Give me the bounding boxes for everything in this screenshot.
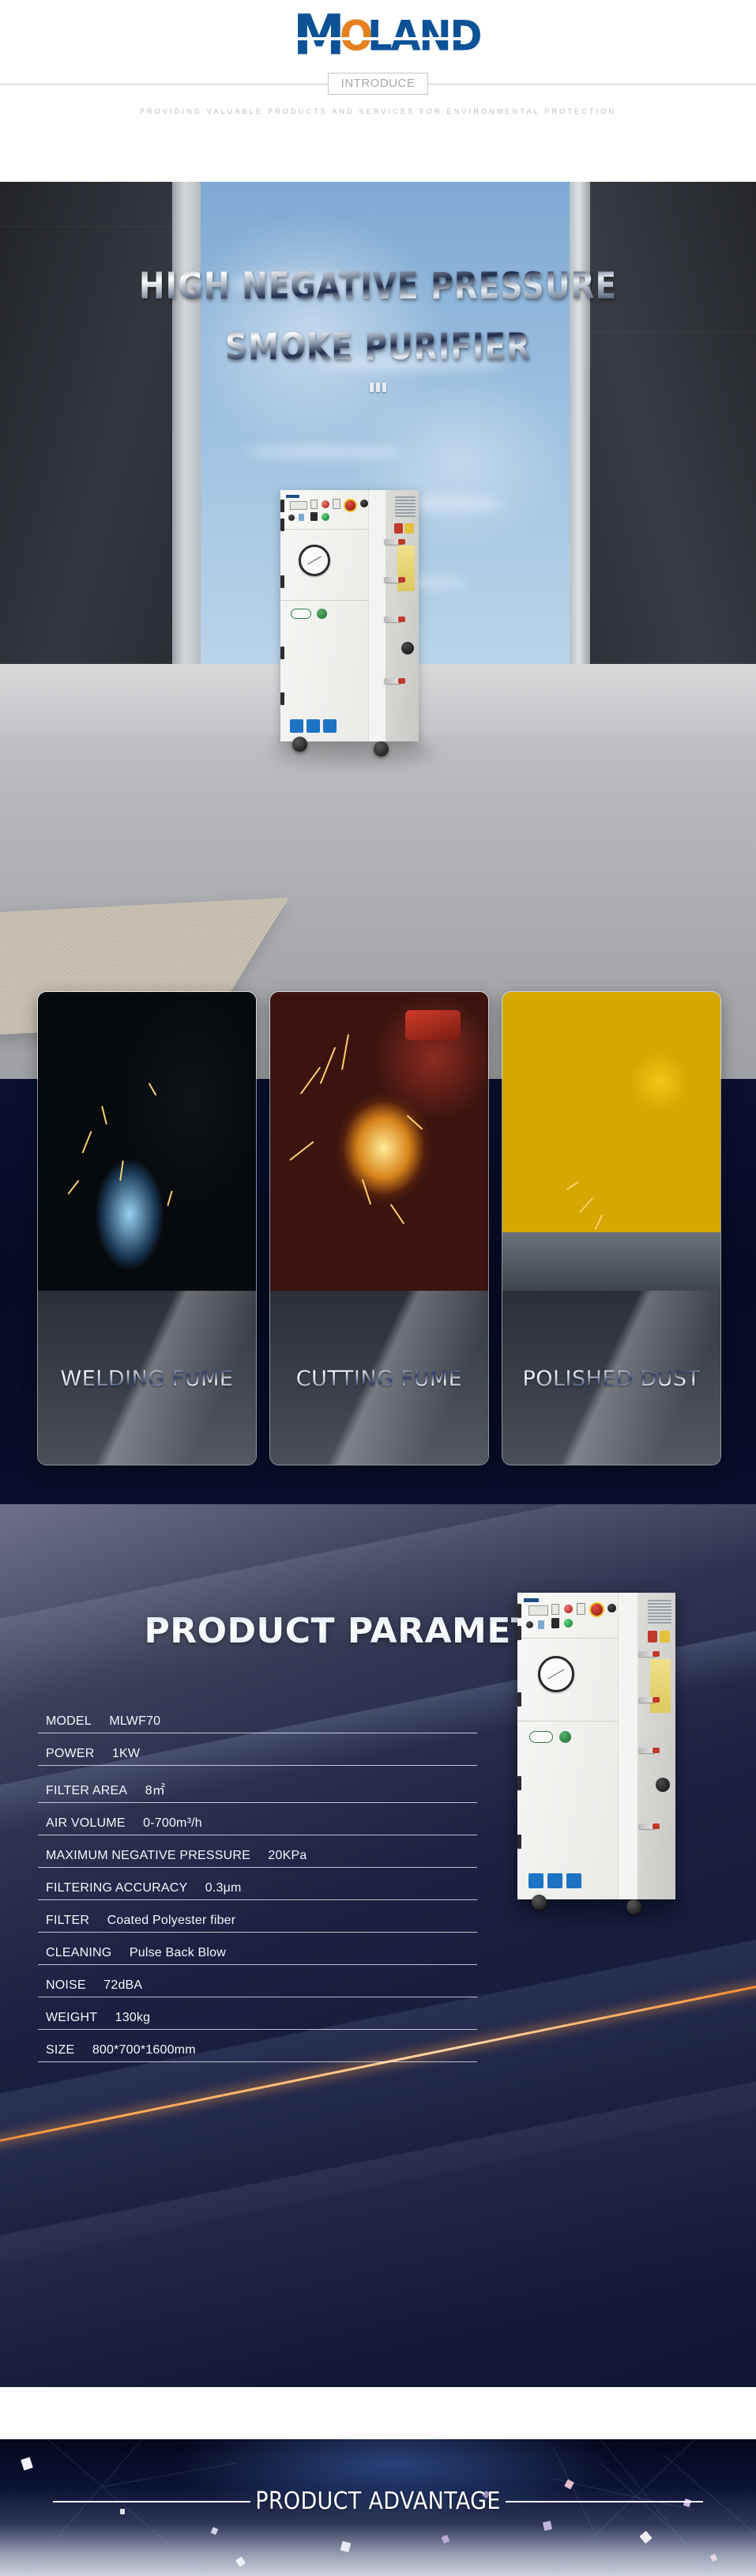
param-key: MAXIMUM NEGATIVE PRESSURE (46, 1849, 250, 1862)
parameters-product-image (517, 1593, 747, 1964)
cutting-fume-photo (270, 992, 488, 1292)
param-key: WEIGHT (46, 2011, 97, 2024)
advantage-rule-left (53, 2501, 250, 2502)
param-key: SIZE (46, 2043, 74, 2057)
hero-title-line1: HIGH NEGATIVE PRESSURE (139, 266, 617, 307)
category-label-welding-fume: WELDING FUME (38, 1367, 256, 1391)
cutting-fume-label-panel: CUTTING FUME (270, 1291, 488, 1465)
table-row: WEIGHT 130kg (38, 2011, 477, 2030)
introduce-label: INTRODUCE (328, 73, 429, 95)
category-label-cutting-fume: CUTTING FUME (270, 1367, 488, 1391)
hero-title-block: HIGH NEGATIVE PRESSURE SMOKE PURIFIER (0, 269, 756, 392)
param-value: 20KPa (268, 1849, 307, 1862)
hero-banner: HIGH NEGATIVE PRESSURE SMOKE PURIFIER (0, 182, 756, 1079)
table-row: MODEL MLWF70 (38, 1714, 477, 1733)
table-row: AIR VOLUME 0-700m³/h (38, 1816, 477, 1835)
param-key: FILTER (46, 1914, 89, 1927)
logo-letter-m: M (293, 9, 340, 64)
polished-dust-label-panel: POLISHED DUST (502, 1291, 720, 1465)
param-value: 1KW (112, 1747, 140, 1760)
param-key: NOISE (46, 1978, 86, 1992)
welding-fume-photo (38, 992, 256, 1292)
welding-fume-label-panel: WELDING FUME (38, 1291, 256, 1465)
brand-logo[interactable]: M O LAND (0, 12, 756, 61)
hero-decoration-dots (0, 383, 756, 392)
advantage-title: PRODUCT ADVANTAGE (250, 2487, 505, 2515)
divider-line-left (0, 84, 328, 85)
confetti-piece (543, 2521, 552, 2531)
polished-dust-photo (502, 992, 720, 1292)
param-value: 0.3μm (205, 1881, 242, 1895)
product-parameters-section: PRODUCT PARAMETERS MODEL MLWF70 POWER 1K… (0, 1504, 756, 2387)
section-white-gap (0, 2387, 756, 2397)
param-value: 0-700m³/h (143, 1816, 202, 1830)
param-value: MLWF70 (109, 1714, 160, 1728)
divider-line-right (428, 84, 756, 85)
param-key: POWER (46, 1747, 94, 1760)
param-value: 800*700*1600mm (92, 2043, 196, 2057)
param-value: 130kg (115, 2011, 151, 2024)
hero-product-image (280, 490, 419, 751)
hero-wall-right (590, 182, 756, 688)
param-key: AIR VOLUME (46, 1816, 126, 1830)
param-value: 72dBA (103, 1978, 142, 1992)
page-header: M O LAND INTRODUCE PROVIDING VALUABLE PR… (0, 0, 756, 182)
logo-letter-o: O (340, 16, 370, 58)
table-row: NOISE 72dBA (38, 1978, 477, 1997)
table-row: FILTER AREA 8㎡ (38, 1779, 477, 1803)
parameters-table: MODEL MLWF70 POWER 1KW FILTER AREA 8㎡ AI… (38, 1714, 477, 2062)
introduce-divider: INTRODUCE (0, 68, 756, 100)
hero-window-jamb-right (570, 182, 590, 688)
param-key: CLEANING (46, 1946, 111, 1959)
param-value: Pulse Back Blow (130, 1946, 226, 1959)
param-value: Coated Polyester fiber (107, 1914, 236, 1927)
table-row: FILTERING ACCURACY 0.3μm (38, 1881, 477, 1900)
advantage-rule-right (506, 2501, 703, 2502)
hero-wall-left (0, 182, 172, 688)
table-row: CLEANING Pulse Back Blow (38, 1946, 477, 1965)
category-card-welding-fume[interactable]: WELDING FUME (37, 991, 257, 1465)
table-row: FILTER Coated Polyester fiber (38, 1914, 477, 1933)
table-row: SIZE 800*700*1600mm (38, 2043, 477, 2062)
product-advantage-section: PRODUCT ADVANTAGE (0, 2439, 756, 2576)
category-card-polished-dust[interactable]: POLISHED DUST (502, 991, 721, 1465)
logo-letters-land: LAND (367, 16, 480, 58)
company-tagline: PROVIDING VALUABLE PRODUCTS AND SERVICES… (0, 107, 756, 115)
category-label-polished-dust: POLISHED DUST (502, 1367, 720, 1391)
category-card-cutting-fume[interactable]: CUTTING FUME (269, 991, 489, 1465)
advantage-title-row: PRODUCT ADVANTAGE (0, 2489, 756, 2514)
hero-title-line2: SMOKE PURIFIER (225, 326, 531, 368)
table-row: POWER 1KW (38, 1747, 477, 1766)
param-key: FILTERING ACCURACY (46, 1881, 187, 1895)
categories-cards: WELDING FUME CUTTING FUME POLISHED D (0, 991, 756, 1465)
param-value: 8㎡ (145, 1784, 165, 1797)
table-row: MAXIMUM NEGATIVE PRESSURE 20KPa (38, 1849, 477, 1868)
hero-window-jamb-left (172, 182, 201, 688)
param-key: FILTER AREA (46, 1784, 127, 1797)
param-key: MODEL (46, 1714, 92, 1728)
